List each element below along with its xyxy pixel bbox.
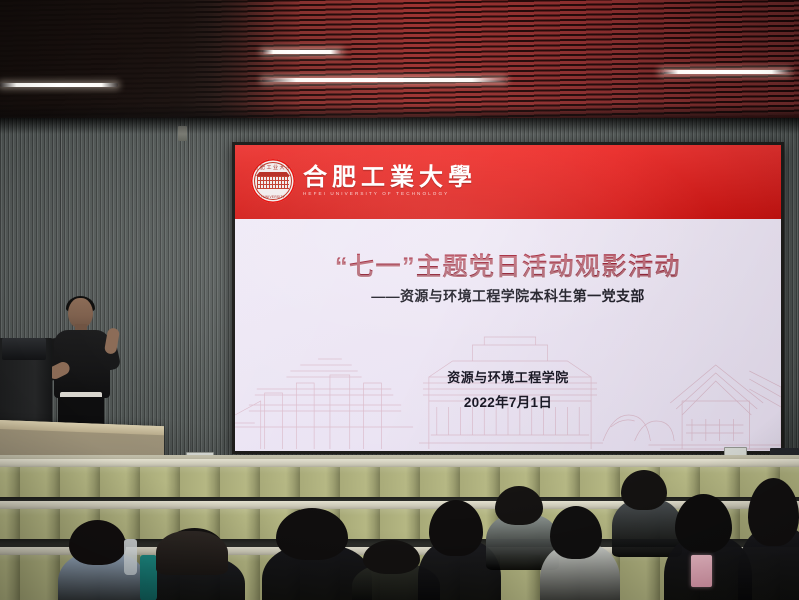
lecture-hall-screenshot: 合肥工业大学 HEFEI UNIVERSITY OF TECHNOLOGY 合肥…: [0, 0, 799, 600]
ceiling: [0, 0, 799, 130]
slide-header-band: 合肥工业大学 HEFEI UNIVERSITY OF TECHNOLOGY 合肥…: [235, 145, 781, 219]
wall-top-shadow: [0, 118, 799, 134]
student-ponytail-blue-shirt-head: [69, 520, 126, 565]
student-grey-shirt-head: [495, 486, 543, 525]
student-white-shirt-head: [550, 506, 602, 559]
seat-row: [0, 467, 799, 497]
ceiling-light: [262, 78, 506, 82]
university-name-en: HEFEI UNIVERSITY OF TECHNOLOGY: [303, 192, 477, 197]
projection-screen[interactable]: 合肥工业大学 HEFEI UNIVERSITY OF TECHNOLOGY 合肥…: [232, 142, 784, 454]
slide-title: “七一”主题党日活动观影活动: [235, 247, 781, 283]
seal-arc-top-text: 合肥工业大学: [251, 164, 295, 171]
slide-surface: 合肥工业大学 HEFEI UNIVERSITY OF TECHNOLOGY 合肥…: [235, 145, 781, 451]
ceiling-light: [0, 83, 118, 87]
pink-smartphone[interactable]: [691, 555, 712, 587]
slide-organization: 资源与环境工程学院: [235, 367, 781, 386]
slide-body: “七一”主题党日活动观影活动 ——资源与环境工程学院本科生第一党支部 资源与环境…: [235, 219, 781, 451]
slide-date: 2022年7月1日: [235, 391, 781, 411]
audience-seating-area: [0, 455, 799, 600]
student-phone-holder-head: [675, 494, 732, 553]
university-name-cn: 合肥工業大學: [303, 166, 477, 190]
laptop-on-desk[interactable]: [2, 338, 46, 360]
university-seal-icon: 合肥工业大学 HEFEI UNIVERSITY OF TECHNOLOGY: [251, 159, 295, 203]
ceiling-light: [262, 50, 342, 54]
seal-building-icon: [257, 176, 289, 189]
student-back-right-head: [621, 470, 667, 510]
ceiling-light: [660, 70, 790, 74]
clear-water-bottle: [124, 539, 137, 575]
student-center-front-head: [276, 508, 348, 560]
seal-arc-bottom-text: HEFEI UNIVERSITY OF TECHNOLOGY: [251, 195, 295, 199]
dark-backpack: [156, 531, 228, 575]
university-logo: 合肥工业大学 HEFEI UNIVERSITY OF TECHNOLOGY 合肥…: [251, 159, 477, 203]
student-dark-hair-mid-head: [429, 500, 483, 556]
slide-subtitle: ——资源与环境工程学院本科生第一党支部: [235, 286, 781, 306]
student-olive-top-head: [363, 540, 420, 574]
university-wordmark: 合肥工業大學 HEFEI UNIVERSITY OF TECHNOLOGY: [303, 166, 477, 197]
teal-water-bottle: [140, 555, 157, 600]
